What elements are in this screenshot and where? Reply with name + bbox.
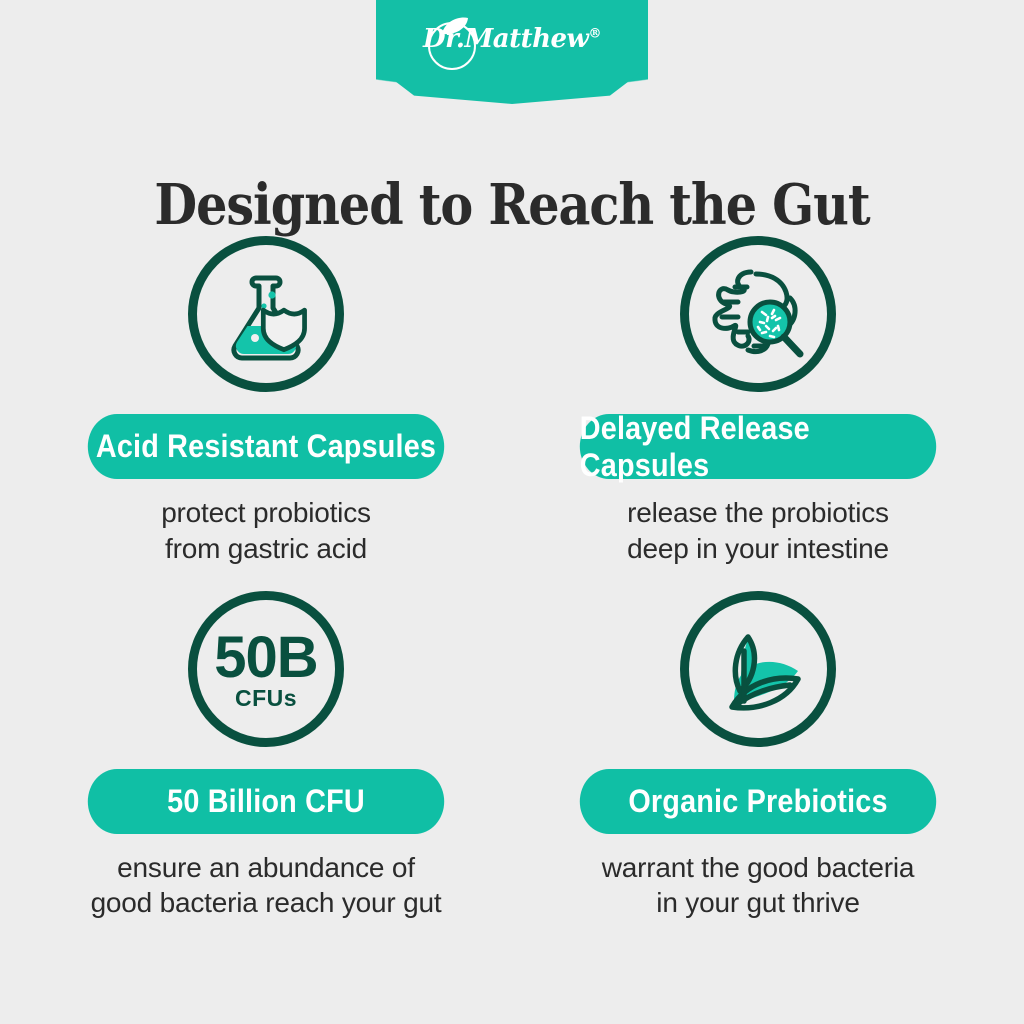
- flask-shield-icon: [188, 236, 344, 392]
- feature-card-organic-prebiotics: Organic Prebiotics warrant the good bact…: [528, 591, 988, 922]
- pill-label: Acid Resistant Capsules: [96, 428, 436, 465]
- feature-description: protect probiotics from gastric acid: [161, 495, 371, 567]
- cfu-small-label: CFUs: [235, 687, 297, 710]
- feature-pill-organic-prebiotics[interactable]: Organic Prebiotics: [580, 769, 936, 834]
- brand-logo-text: Dr.Matthew®: [376, 24, 648, 54]
- feature-description: warrant the good bacteria in your gut th…: [602, 850, 915, 922]
- desc-line-1: warrant the good bacteria: [602, 850, 915, 886]
- pill-label: Delayed Release Capsules: [580, 410, 936, 484]
- desc-line-1: ensure an abundance of: [91, 850, 442, 886]
- cfu-count-icon: 50B CFUs: [188, 591, 344, 747]
- intestine-magnifier-bacteria-icon: [680, 236, 836, 392]
- leaf-icon: [440, 16, 470, 36]
- desc-line-2: from gastric acid: [161, 531, 371, 567]
- feature-description: ensure an abundance of good bacteria rea…: [91, 850, 442, 922]
- feature-description: release the probiotics deep in your inte…: [627, 495, 889, 567]
- feature-card-acid-resistant: Acid Resistant Capsules protect probioti…: [36, 236, 496, 567]
- two-leaves-icon: [680, 591, 836, 747]
- desc-line-2: deep in your intestine: [627, 531, 889, 567]
- desc-line-1: release the probiotics: [627, 495, 889, 531]
- feature-pill-cfu-count[interactable]: 50 Billion CFU: [88, 769, 444, 834]
- registered-mark: ®: [588, 26, 601, 41]
- desc-line-2: good bacteria reach your gut: [91, 885, 442, 921]
- desc-line-2: in your gut thrive: [602, 885, 915, 921]
- pill-label: 50 Billion CFU: [167, 783, 365, 820]
- feature-grid: Acid Resistant Capsules protect probioti…: [36, 236, 988, 921]
- pill-label: Organic Prebiotics: [628, 783, 887, 820]
- cfu-big-value: 50B: [214, 631, 317, 686]
- brand-banner: Dr.Matthew®: [376, 0, 648, 104]
- feature-card-cfu-count: 50B CFUs 50 Billion CFU ensure an abunda…: [36, 591, 496, 922]
- page-title: Designed to Reach the Gut: [61, 172, 962, 238]
- desc-line-1: protect probiotics: [161, 495, 371, 531]
- feature-pill-delayed-release[interactable]: Delayed Release Capsules: [580, 414, 936, 479]
- feature-pill-acid-resistant[interactable]: Acid Resistant Capsules: [88, 414, 444, 479]
- feature-card-delayed-release: Delayed Release Capsules release the pro…: [528, 236, 988, 567]
